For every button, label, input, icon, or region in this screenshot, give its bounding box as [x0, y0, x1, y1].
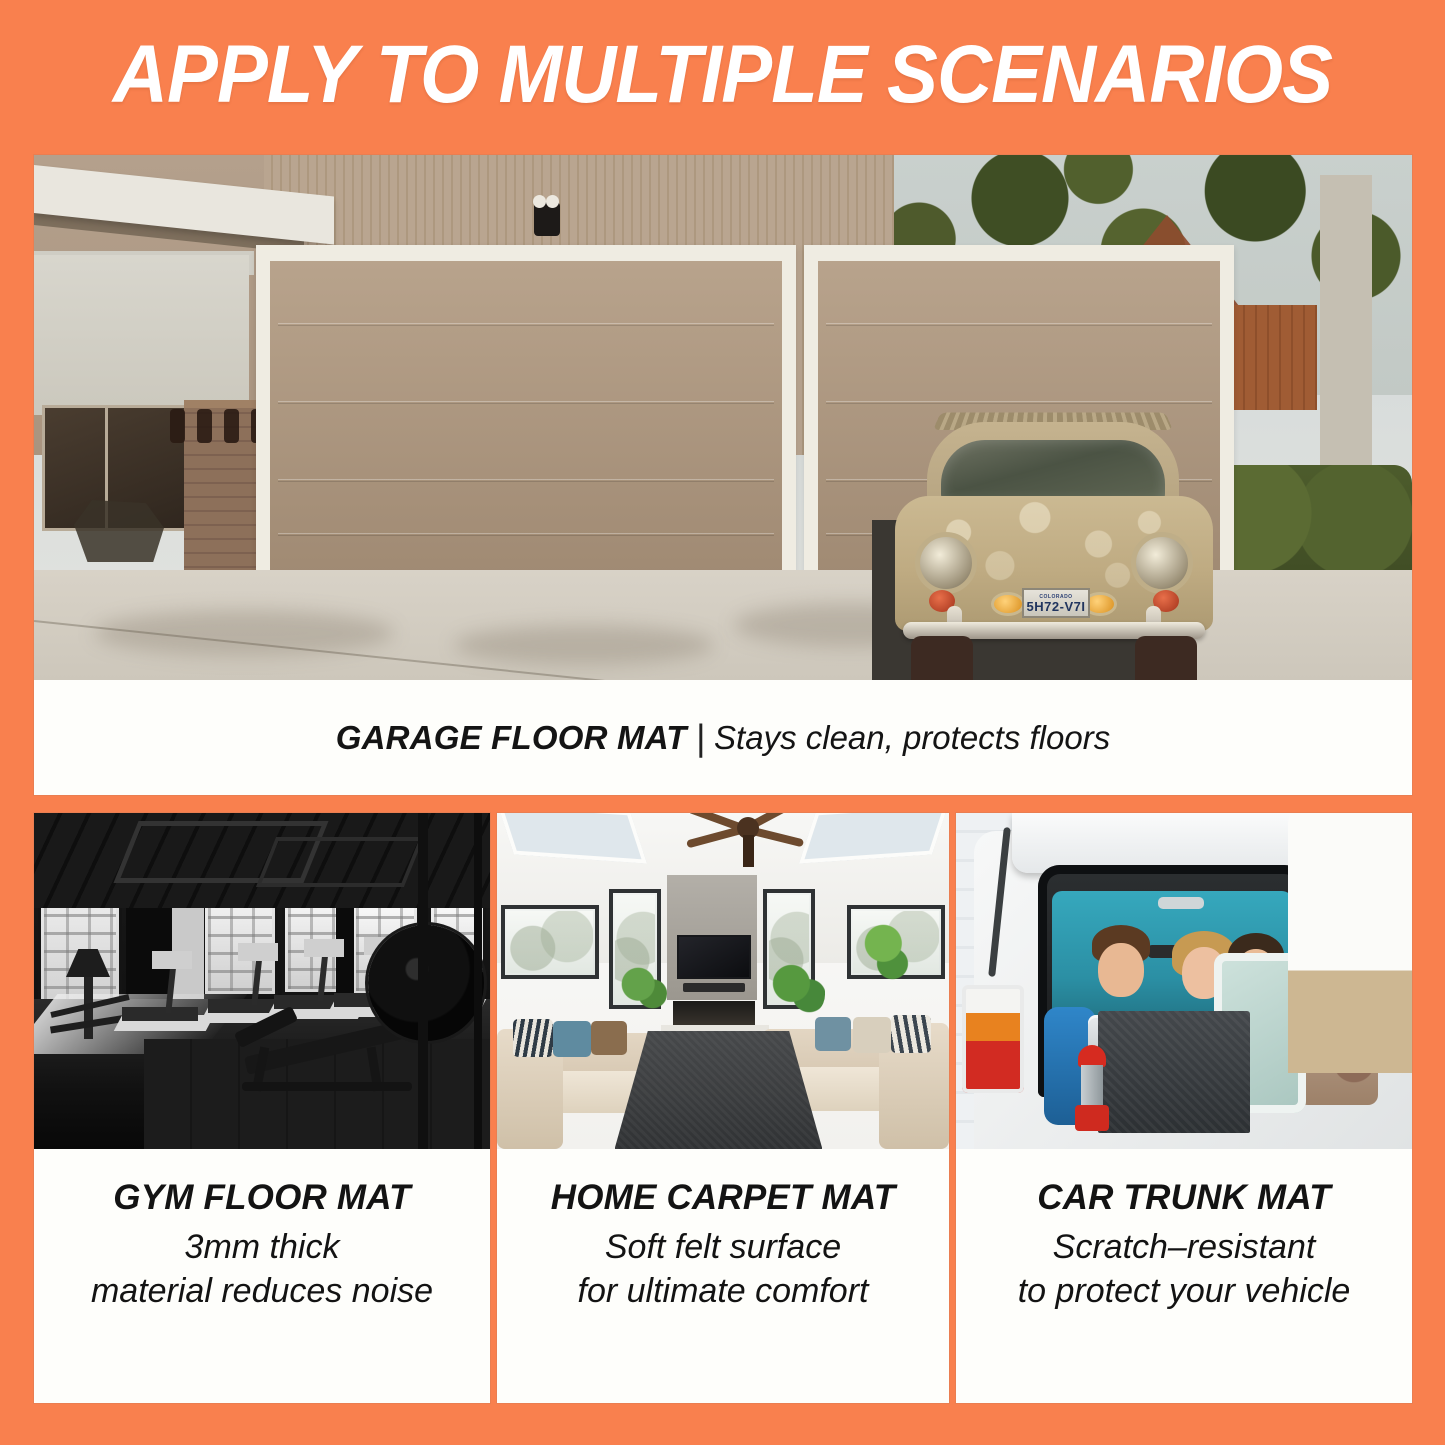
pillow-striped-2	[891, 1015, 931, 1053]
trunk-caption-line2: Scratch–resistant	[964, 1225, 1404, 1269]
stucco-pillar	[1320, 175, 1372, 505]
ceiling-fan	[693, 813, 813, 861]
pillow-striped	[513, 1019, 553, 1057]
gym-caption-title: GYM FLOOR MAT	[42, 1175, 482, 1221]
license-plate: COLORADO 5H72-V7I	[1022, 588, 1090, 618]
floodlight-icon	[534, 202, 560, 236]
scenario-card-home: HOME CARPET MAT Soft felt surface for ul…	[497, 813, 949, 1403]
gym-caption-line3: material reduces noise	[42, 1269, 482, 1313]
hero-card: COLORADO 5H72-V7I GARAGE FLOOR MAT | Sta…	[34, 155, 1412, 795]
scenario-card-gym: GYM FLOOR MAT 3mm thick material reduces…	[34, 813, 490, 1403]
home-carpet-mat	[615, 1031, 823, 1149]
boy-face	[1098, 943, 1144, 997]
windshield	[941, 440, 1165, 502]
neighbor-house	[34, 255, 249, 415]
caption-separator: |	[696, 717, 705, 759]
home-caption-line3: for ultimate comfort	[505, 1269, 941, 1313]
hero-caption: GARAGE FLOOR MAT | Stays clean, protects…	[34, 680, 1412, 795]
trunk-caption: CAR TRUNK MAT Scratch–resistant to prote…	[956, 1149, 1412, 1313]
squat-rack-post-2	[474, 813, 482, 1149]
person-standing	[1288, 813, 1412, 1073]
garage-photo: COLORADO 5H72-V7I	[34, 155, 1412, 680]
headlight-right	[1131, 532, 1193, 594]
dome-light	[1158, 897, 1204, 909]
garage-door-frame-left	[256, 245, 796, 590]
trunk-caption-line3: to protect your vehicle	[964, 1269, 1404, 1313]
home-caption-line2: Soft felt surface	[505, 1225, 941, 1269]
tire-right	[1135, 636, 1197, 680]
hero-caption-title: GARAGE FLOOR MAT	[336, 719, 687, 757]
fireplace-opening	[673, 1001, 755, 1027]
trunk-caption-title: CAR TRUNK MAT	[964, 1175, 1404, 1221]
living-room-photo	[497, 813, 949, 1149]
vintage-car: COLORADO 5H72-V7I	[889, 400, 1219, 680]
header-banner: APPLY TO MULTIPLE SCENARIOS	[0, 0, 1445, 150]
taillight	[962, 985, 1024, 1093]
living-room-scene	[497, 813, 949, 1149]
home-caption-title: HOME CARPET MAT	[505, 1175, 941, 1221]
wall-mounted-tv	[677, 935, 751, 979]
car-trunk-mat	[1098, 1011, 1250, 1133]
pillow-cream	[853, 1017, 891, 1053]
pillow-teal	[815, 1017, 851, 1051]
hero-caption-desc: Stays clean, protects floors	[714, 719, 1110, 757]
squat-rack-post-1	[418, 813, 428, 1149]
turnsignal-left	[991, 592, 1025, 616]
window-far-left	[501, 905, 599, 979]
headlight-left	[915, 532, 977, 594]
gym-caption-line2: 3mm thick	[42, 1225, 482, 1269]
gym-caption: GYM FLOOR MAT 3mm thick material reduces…	[34, 1149, 490, 1313]
soundbar	[683, 983, 745, 992]
tire-left	[911, 636, 973, 680]
plate-number: 5H72-V7I	[1027, 600, 1086, 613]
pillow-blue	[553, 1021, 591, 1057]
ceiling-light-frame-2	[256, 837, 424, 887]
gym-scene	[34, 813, 490, 1149]
infographic-page: APPLY TO MULTIPLE SCENARIOS	[0, 0, 1445, 1445]
garage-door-left	[270, 261, 782, 576]
car-trunk-photo	[956, 813, 1412, 1149]
home-caption: HOME CARPET MAT Soft felt surface for ul…	[497, 1149, 949, 1313]
scenario-card-trunk: CAR TRUNK MAT Scratch–resistant to prote…	[956, 813, 1412, 1403]
trunk-scene	[956, 813, 1412, 1149]
camping-lantern	[1074, 1045, 1110, 1131]
page-title: APPLY TO MULTIPLE SCENARIOS	[113, 34, 1332, 116]
gym-photo	[34, 813, 490, 1149]
pillow-brown	[591, 1021, 627, 1055]
